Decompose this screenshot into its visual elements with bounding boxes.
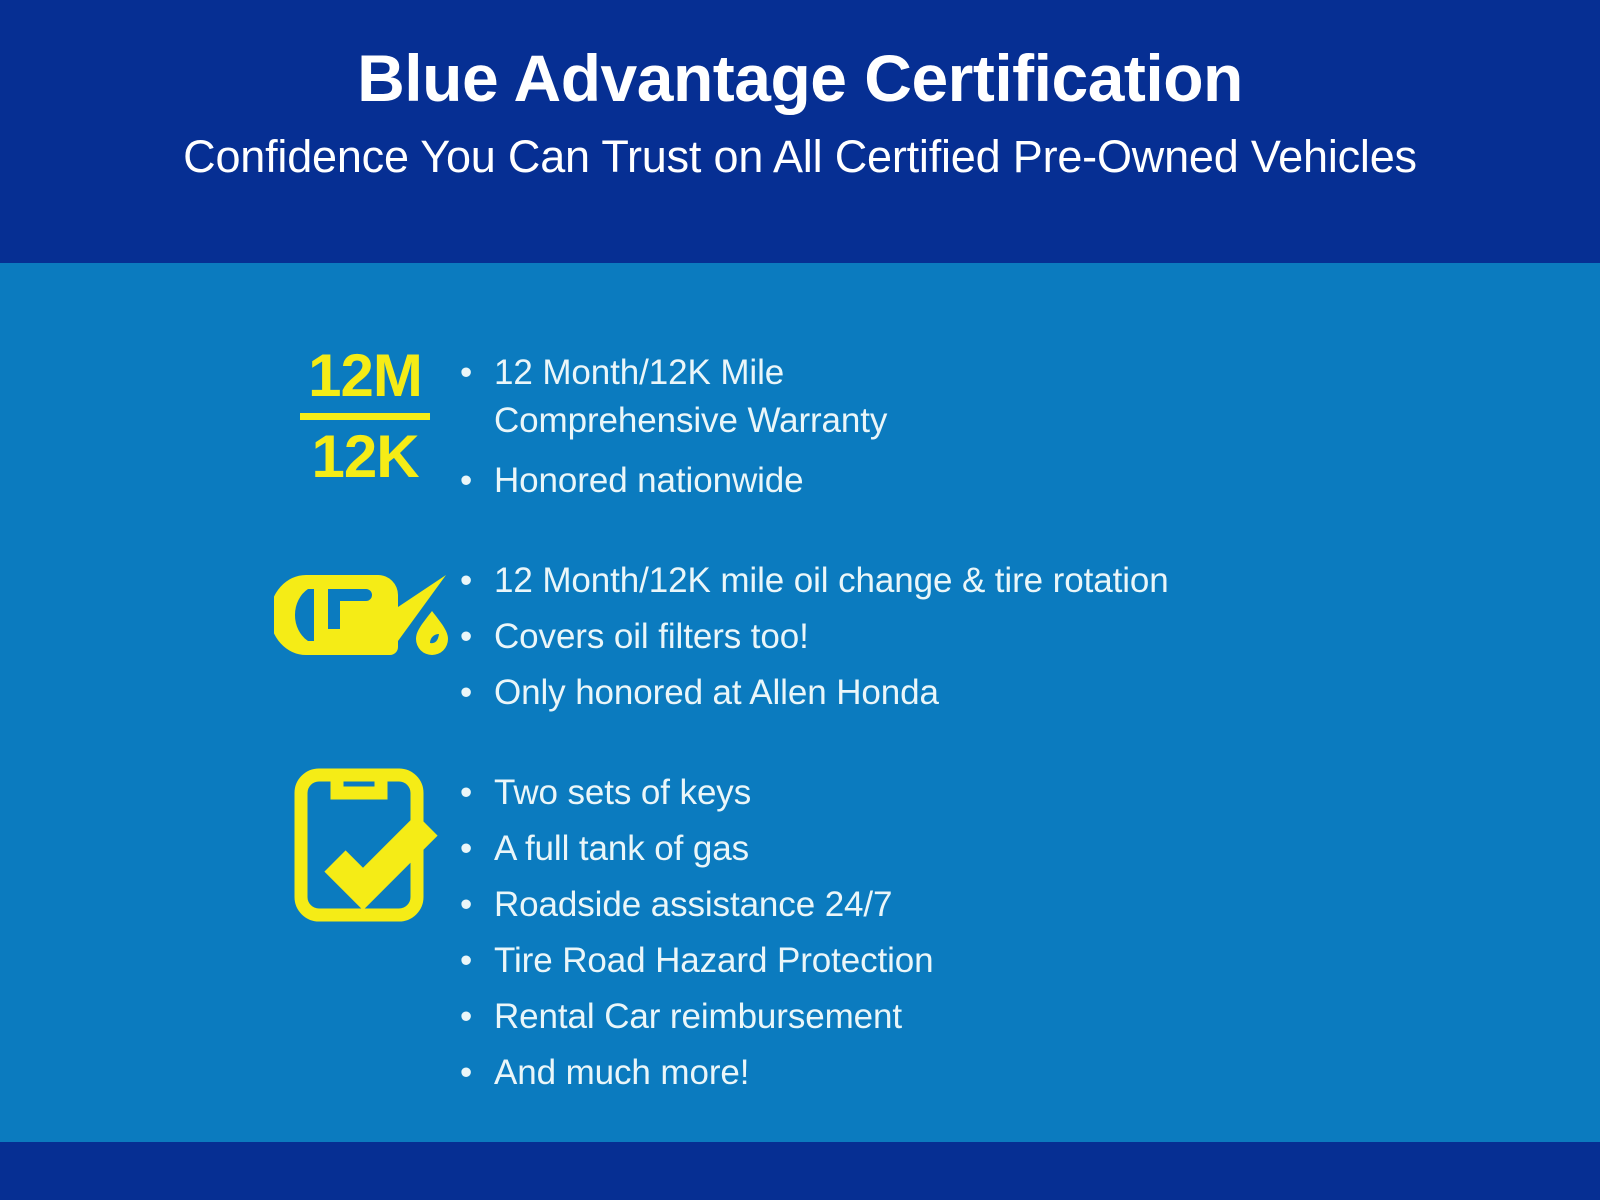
list-item: A full tank of gas bbox=[460, 825, 934, 873]
list-item: Honored nationwide bbox=[460, 457, 1020, 505]
bullet-list-extras: Two sets of keys A full tank of gas Road… bbox=[460, 769, 934, 1105]
oil-can-icon bbox=[274, 553, 456, 673]
page-title: Blue Advantage Certification bbox=[357, 44, 1243, 113]
feature-group-extras: Two sets of keys A full tank of gas Road… bbox=[270, 763, 934, 1105]
fraction-numerator: 12M bbox=[308, 345, 422, 406]
list-item: Covers oil filters too! bbox=[460, 613, 1169, 661]
poster-header: Blue Advantage Certification Confidence … bbox=[0, 0, 1600, 263]
fraction-bar bbox=[300, 413, 430, 420]
feature-group-warranty: 12M 12K 12 Month/12K Mile Comprehensive … bbox=[270, 345, 1020, 505]
list-item: 12 Month/12K Mile Comprehensive Warranty bbox=[460, 349, 1020, 445]
bullet-list-oil-change: 12 Month/12K mile oil change & tire rota… bbox=[460, 557, 1169, 725]
footer-band bbox=[0, 1142, 1600, 1200]
icon-slot-extras bbox=[270, 763, 460, 923]
icon-slot-warranty: 12M 12K bbox=[270, 345, 460, 487]
bullet-list-warranty: 12 Month/12K Mile Comprehensive Warranty… bbox=[460, 349, 1020, 505]
twelve-month-twelve-k-fraction-icon: 12M 12K bbox=[300, 345, 430, 487]
clipboard-check-icon bbox=[287, 763, 443, 923]
list-item: Rental Car reimbursement bbox=[460, 993, 934, 1041]
list-item: Two sets of keys bbox=[460, 769, 934, 817]
list-item: Tire Road Hazard Protection bbox=[460, 937, 934, 985]
fraction-denominator: 12K bbox=[311, 426, 418, 487]
blue-advantage-certification-poster: Blue Advantage Certification Confidence … bbox=[0, 0, 1600, 1200]
list-item: And much more! bbox=[460, 1049, 934, 1097]
list-item: 12 Month/12K mile oil change & tire rota… bbox=[460, 557, 1169, 605]
icon-slot-oil-change bbox=[270, 553, 460, 673]
features-area: 12M 12K 12 Month/12K Mile Comprehensive … bbox=[0, 263, 1600, 1142]
page-subtitle: Confidence You Can Trust on All Certifie… bbox=[183, 131, 1417, 183]
list-item: Only honored at Allen Honda bbox=[460, 669, 1169, 717]
list-item: Roadside assistance 24/7 bbox=[460, 881, 934, 929]
feature-group-oil-change: 12 Month/12K mile oil change & tire rota… bbox=[270, 553, 1169, 725]
